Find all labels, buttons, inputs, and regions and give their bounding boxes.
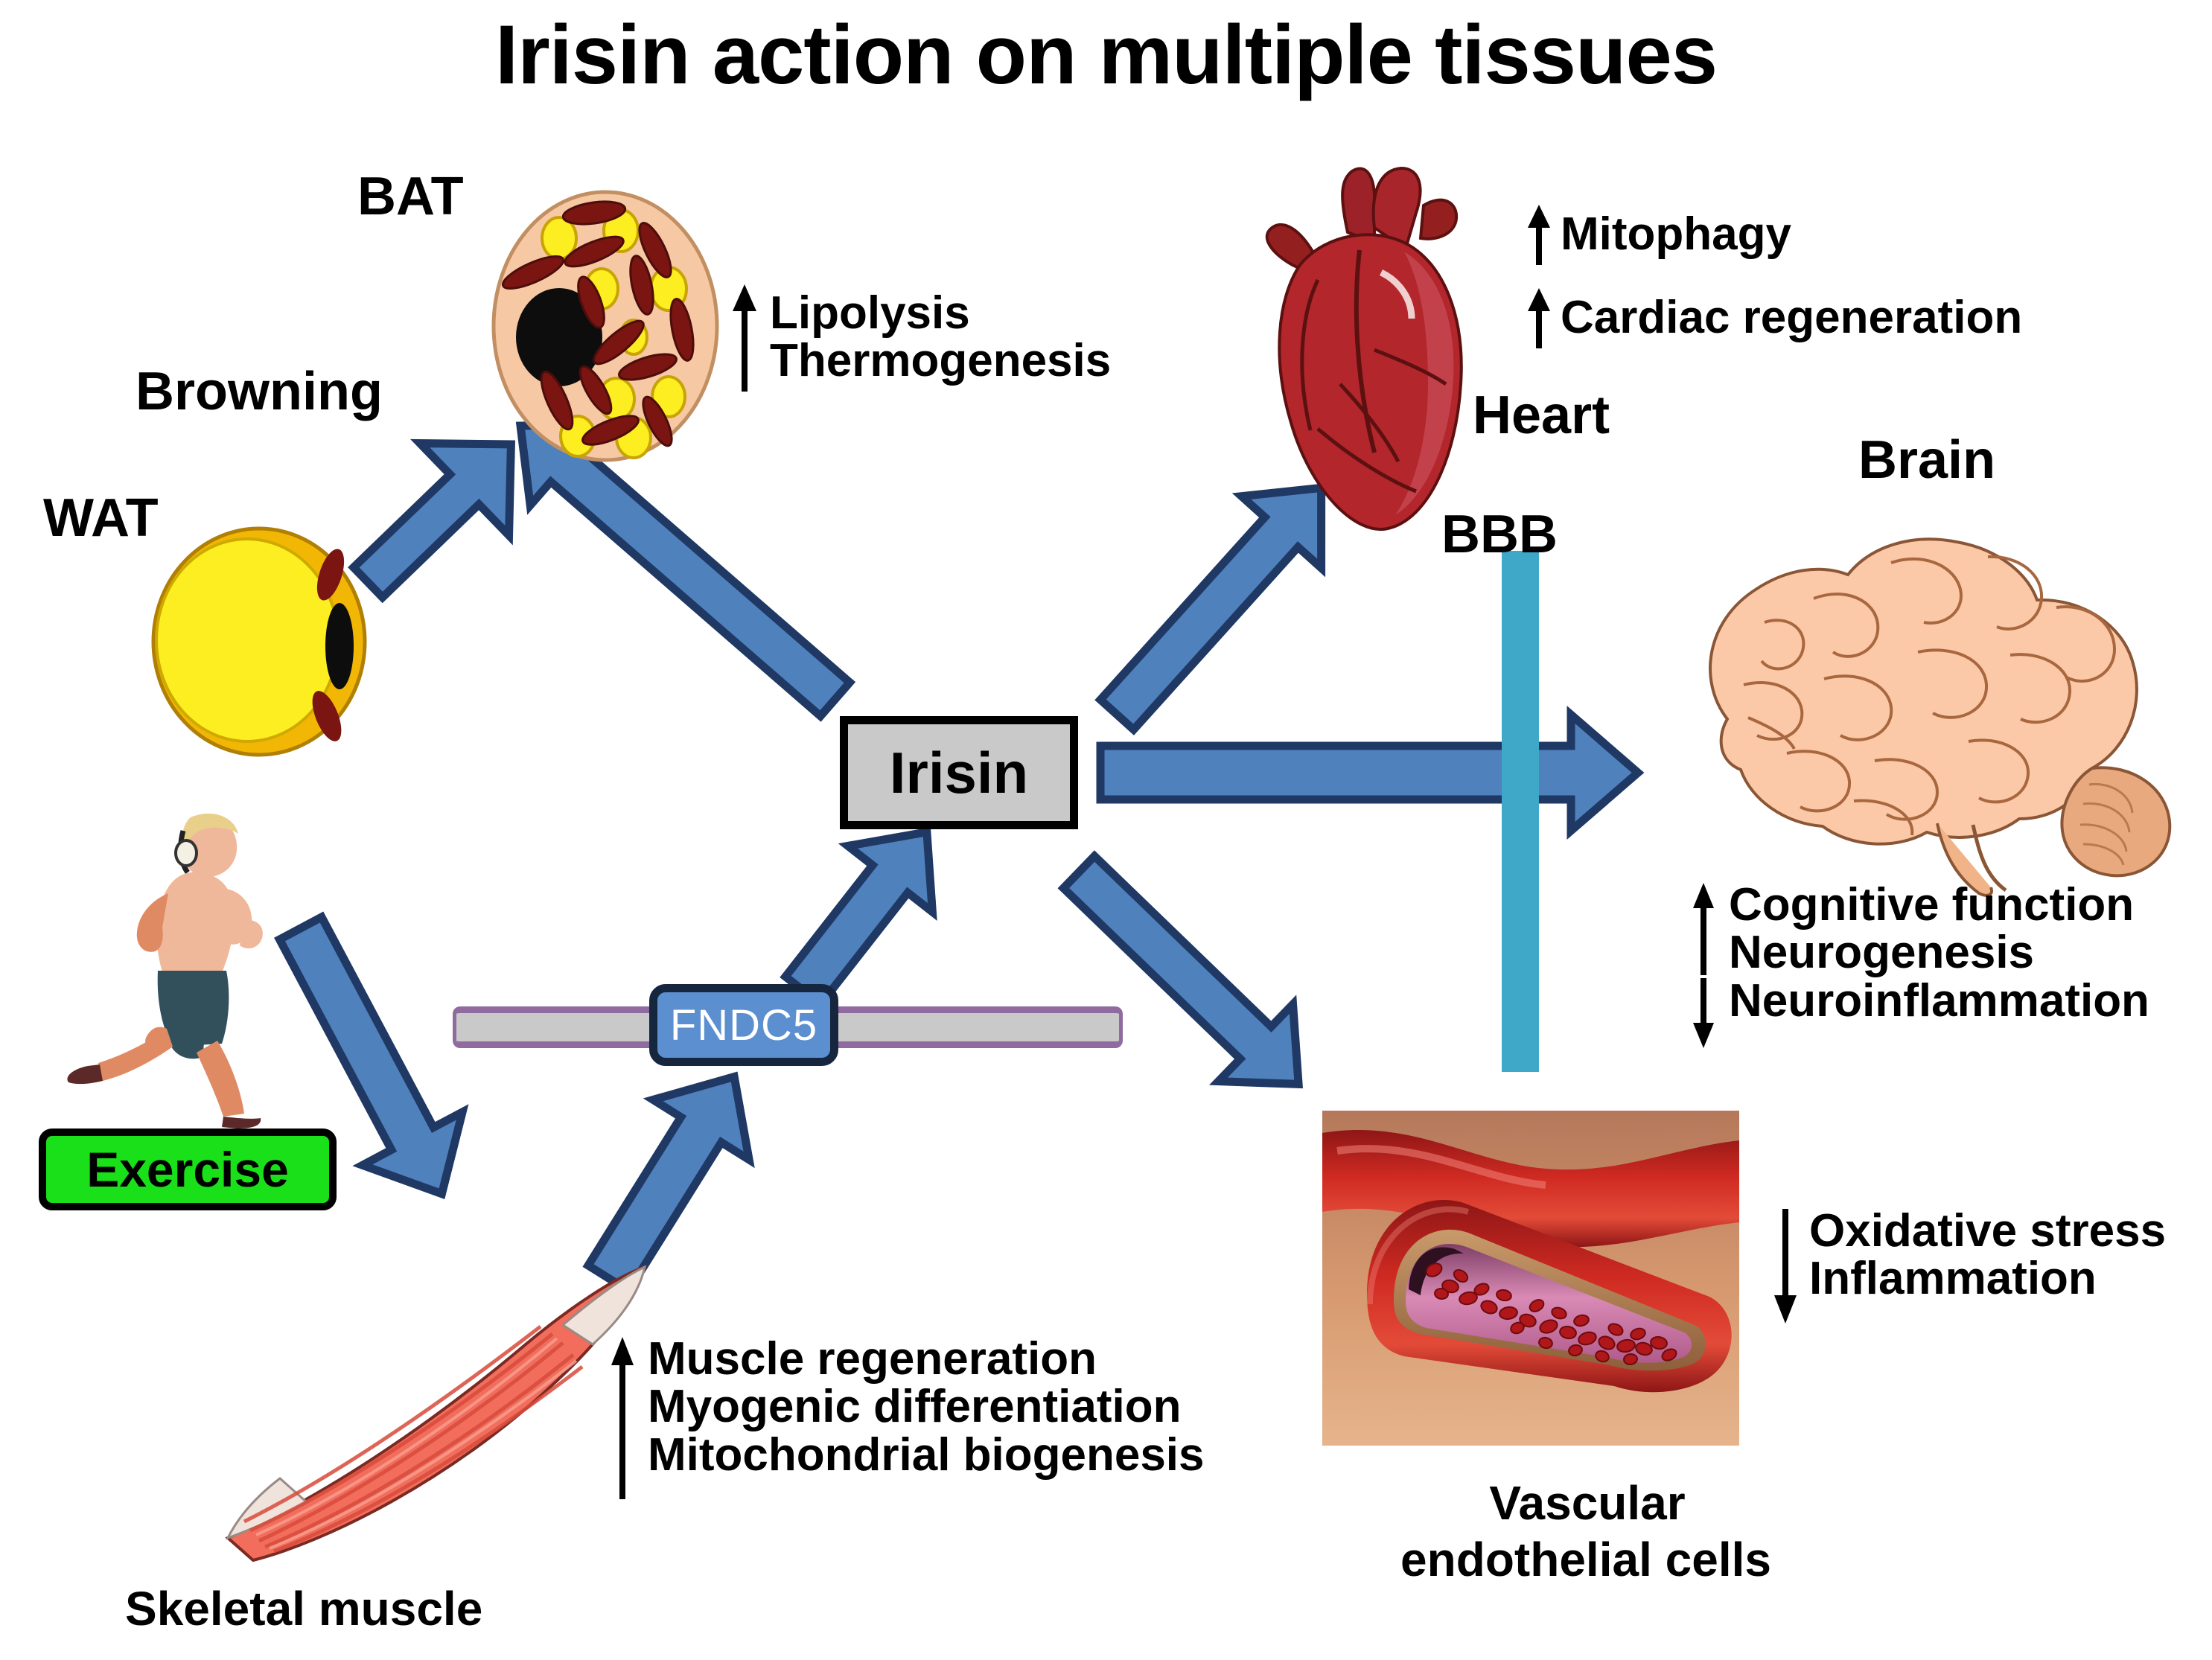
label-bbb: BBB <box>1441 506 1558 563</box>
exercise-node[interactable]: Exercise <box>39 1129 337 1210</box>
fndc5-node[interactable]: FNDC5 <box>649 984 838 1066</box>
label-brain: Brain <box>1858 432 1995 488</box>
label-bat: BAT <box>357 168 464 225</box>
effect-brain-1: Cognitive function <box>1729 881 2149 929</box>
skeletal-muscle-illustration <box>176 1233 667 1583</box>
label-wat: WAT <box>43 490 159 546</box>
up-arrow-icon <box>1525 286 1553 350</box>
effects-heart-cardiac: Cardiac regeneration <box>1525 286 2022 350</box>
effect-heart-2: Cardiac regeneration <box>1561 294 2022 342</box>
brain-illustration <box>1675 503 2196 898</box>
effect-bat-2: Thermogenesis <box>770 337 1111 385</box>
effects-heart-mitophagy: Mitophagy <box>1525 202 1791 266</box>
up-down-arrow-icon <box>1689 881 1718 1050</box>
effects-vascular: Oxidative stress Inflammation <box>1770 1207 2166 1325</box>
effects-bat: Lipolysis Thermogenesis <box>730 281 1111 393</box>
effect-bat-1: Lipolysis <box>770 290 1111 337</box>
effect-vascular-2: Inflammation <box>1809 1255 2166 1303</box>
up-arrow-icon <box>608 1335 637 1501</box>
label-heart: Heart <box>1473 387 1610 444</box>
page-title: Irisin action on multiple tissues <box>0 13 2212 97</box>
effects-muscle: Muscle regeneration Myogenic differentia… <box>608 1335 1205 1501</box>
effect-muscle-2: Myogenic differentiation <box>648 1383 1205 1431</box>
arrow-irisin-to-brain <box>1100 715 1638 831</box>
blood-brain-barrier-bar <box>1502 551 1539 1072</box>
arrow-irisin-to-vascular <box>1042 834 1336 1123</box>
heart-illustration <box>1228 161 1526 563</box>
label-browning: Browning <box>136 363 383 420</box>
down-arrow-icon <box>1770 1207 1800 1325</box>
up-arrow-icon <box>1525 202 1553 266</box>
effect-heart-1: Mitophagy <box>1561 211 1791 258</box>
bat-cell-illustration <box>482 185 728 467</box>
effect-vascular-1: Oxidative stress <box>1809 1207 2166 1255</box>
effect-muscle-3: Mitochondrial biogenesis <box>648 1431 1205 1479</box>
irisin-node[interactable]: Irisin <box>840 716 1078 829</box>
label-skeletal-muscle: Skeletal muscle <box>125 1584 482 1635</box>
vascular-illustration <box>1322 1111 1739 1446</box>
wat-cell-illustration <box>146 521 377 759</box>
label-vascular-line1: Vascular <box>1416 1478 1759 1529</box>
effect-brain-3: Neuroinflammation <box>1729 977 2149 1025</box>
effect-muscle-1: Muscle regeneration <box>648 1335 1205 1383</box>
up-arrow-icon <box>730 281 759 393</box>
label-vascular-line2: endothelial cells <box>1310 1535 1861 1586</box>
runner-illustration <box>45 801 342 1129</box>
effect-brain-2: Neurogenesis <box>1729 929 2149 977</box>
effects-brain: Cognitive function Neurogenesis Neuroinf… <box>1689 881 2149 1050</box>
diagram-canvas: Irisin action on multiple tissues <box>0 0 2212 1660</box>
